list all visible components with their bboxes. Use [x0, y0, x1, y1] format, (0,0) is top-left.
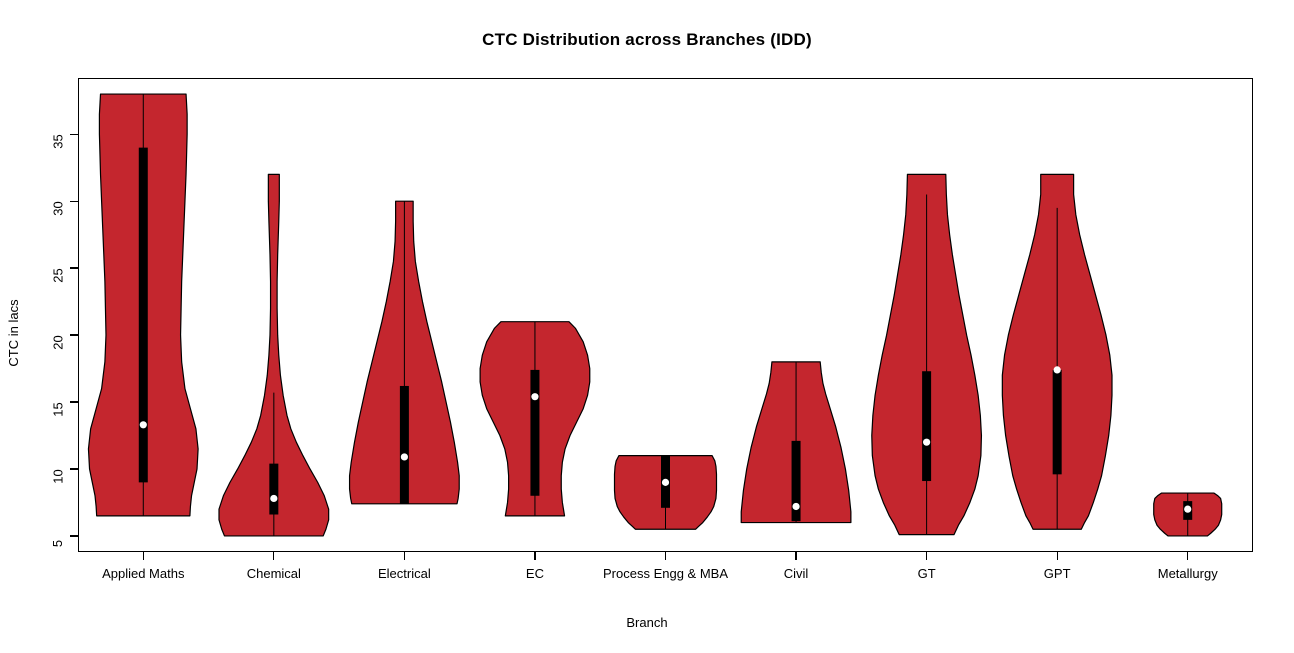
x-tick-label-gpt: GPT [1044, 566, 1071, 581]
x-tick-mark [404, 552, 405, 560]
y-tick-label: 25 [50, 268, 65, 282]
y-tick-label: 5 [50, 540, 65, 547]
chart-title: CTC Distribution across Branches (IDD) [0, 30, 1294, 50]
y-tick-label: 30 [50, 201, 65, 215]
x-tick-label-ec: EC [526, 566, 544, 581]
x-axis-title: Branch [0, 615, 1294, 630]
x-tick-mark [534, 552, 535, 560]
x-tick-label-metallurgy: Metallurgy [1158, 566, 1218, 581]
x-axis: Applied MathsChemicalElectricalECProcess… [78, 552, 1253, 602]
y-tick-mark [70, 468, 78, 469]
plot-area [78, 78, 1253, 552]
x-tick-mark [665, 552, 666, 560]
x-tick-mark [143, 552, 144, 560]
y-axis: CTC in lacs 5101520253035 [0, 78, 78, 552]
plot-frame-border [78, 78, 1253, 552]
y-tick-label: 15 [50, 402, 65, 416]
y-tick-label: 35 [50, 135, 65, 149]
x-tick-mark [1187, 552, 1188, 560]
y-tick-mark [70, 401, 78, 402]
x-tick-label-chemical: Chemical [247, 566, 301, 581]
y-tick-label: 20 [50, 335, 65, 349]
violin-plot-figure: CTC Distribution across Branches (IDD) C… [0, 0, 1294, 653]
y-axis-title: CTC in lacs [6, 299, 21, 366]
y-tick-label: 10 [50, 469, 65, 483]
y-tick-mark [70, 134, 78, 135]
y-tick-mark [70, 535, 78, 536]
x-tick-label-gt: GT [918, 566, 936, 581]
x-tick-mark [926, 552, 927, 560]
y-tick-mark [70, 334, 78, 335]
x-tick-label-electrical: Electrical [378, 566, 431, 581]
y-tick-mark [70, 267, 78, 268]
x-tick-mark [273, 552, 274, 560]
y-tick-mark [70, 201, 78, 202]
x-tick-label-applied-maths: Applied Maths [102, 566, 184, 581]
x-tick-mark [795, 552, 796, 560]
x-tick-label-civil: Civil [784, 566, 809, 581]
x-tick-mark [1057, 552, 1058, 560]
x-tick-label-process-engg-mba: Process Engg & MBA [603, 566, 728, 581]
